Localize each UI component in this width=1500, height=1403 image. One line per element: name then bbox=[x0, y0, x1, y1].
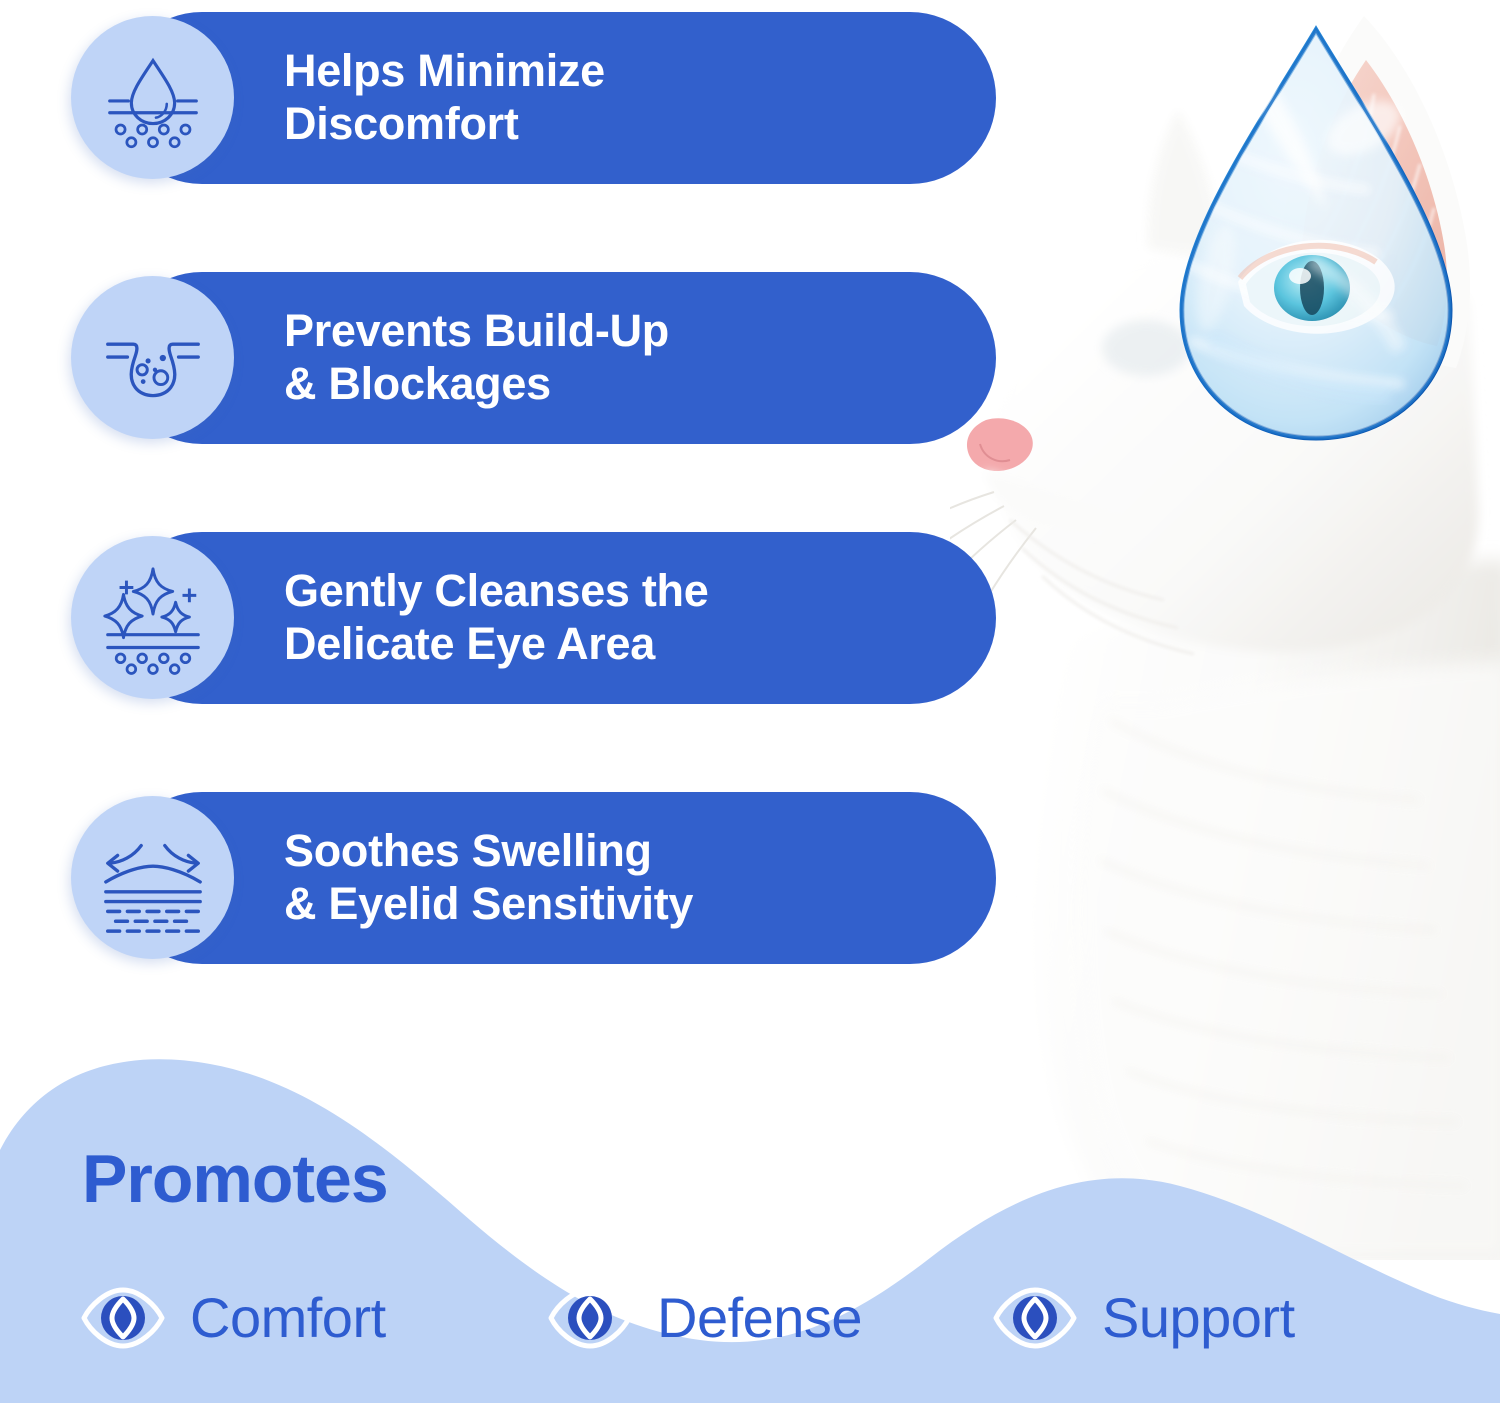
promote-label-support: Support bbox=[1102, 1290, 1295, 1346]
clogged-pore-icon bbox=[71, 276, 234, 439]
eye-icon bbox=[545, 1282, 635, 1354]
benefit-text-4: Soothes Swelling & Eyelid Sensitivity bbox=[284, 825, 693, 930]
benefit-pill-2: Prevents Build-Up & Blockages bbox=[116, 272, 996, 444]
benefit-pill-1: Helps Minimize Discomfort bbox=[116, 12, 996, 184]
eye-icon bbox=[990, 1282, 1080, 1354]
promote-item-support: Support bbox=[990, 1282, 1295, 1354]
soothing-arrows-skin-icon bbox=[71, 796, 234, 959]
infographic-canvas: Helps Minimize Discomfort Prevents bbox=[0, 0, 1500, 1403]
promotes-items-row: Comfort Defense Support bbox=[0, 1282, 1500, 1372]
droplet-absorbing-skin-icon bbox=[71, 16, 234, 179]
benefit-pill-4: Soothes Swelling & Eyelid Sensitivity bbox=[116, 792, 996, 964]
promote-label-comfort: Comfort bbox=[190, 1290, 386, 1346]
benefit-pill-3: Gently Cleanses the Delicate Eye Area bbox=[116, 532, 996, 704]
promote-item-defense: Defense bbox=[545, 1282, 862, 1354]
promotes-heading: Promotes bbox=[82, 1140, 388, 1218]
benefit-text-2: Prevents Build-Up & Blockages bbox=[284, 305, 669, 410]
eye-icon bbox=[78, 1282, 168, 1354]
benefit-text-1: Helps Minimize Discomfort bbox=[284, 45, 605, 150]
benefit-text-3: Gently Cleanses the Delicate Eye Area bbox=[284, 565, 708, 670]
promote-label-defense: Defense bbox=[657, 1290, 862, 1346]
promote-item-comfort: Comfort bbox=[78, 1282, 386, 1354]
sparkles-clean-skin-icon bbox=[71, 536, 234, 699]
